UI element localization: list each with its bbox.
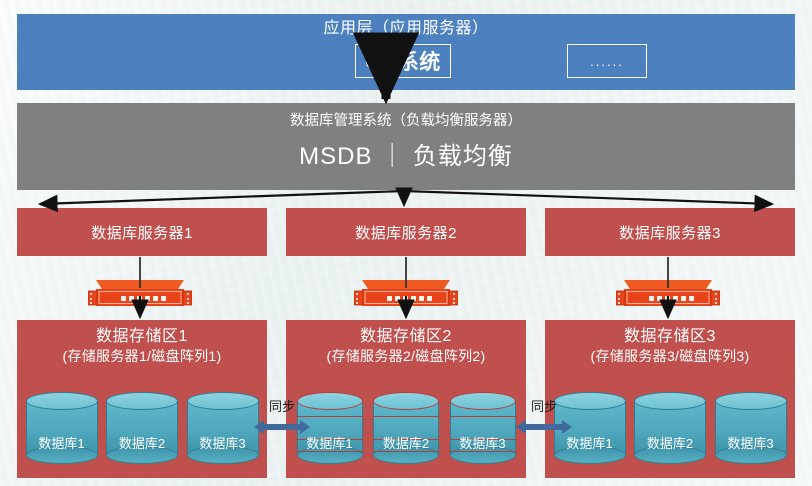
- storage-area-subtitle-3: (存储服务器3/磁盘阵列3): [545, 347, 795, 366]
- cylinder-seam: [296, 416, 364, 417]
- cylinder-top: [634, 392, 706, 410]
- storage-area-title-3: 数据存储区3: [545, 326, 795, 347]
- diagram-canvas: 应用层（应用服务器） OA系统 ...... 数据库管理系统（负载均衡服务器） …: [0, 0, 812, 486]
- cylinder-top: [373, 392, 439, 410]
- storage-area-title-1: 数据存储区1: [17, 326, 267, 347]
- cylinder-top: [450, 392, 516, 410]
- storage-area-subtitle-2: (存储服务器2/磁盘阵列2): [286, 347, 526, 366]
- database-cylinder[interactable]: 数据库3: [187, 392, 259, 464]
- database-label: 数据库2: [634, 433, 706, 452]
- sync-label: 同步: [252, 396, 312, 415]
- database-cylinder[interactable]: 数据库2: [106, 392, 178, 464]
- database-label: 数据库3: [450, 433, 516, 452]
- application-layer-band: 应用层（应用服务器） OA系统 ......: [17, 14, 795, 90]
- cylinder-top: [715, 392, 787, 410]
- database-label: 数据库1: [297, 433, 363, 452]
- database-label: 数据库1: [26, 433, 98, 452]
- cylinder-top: [106, 392, 178, 410]
- cylinder-seam: [449, 416, 517, 417]
- database-label: 数据库1: [554, 433, 626, 452]
- storage-area-title-2: 数据存储区2: [286, 326, 526, 347]
- cylinder-top: [26, 392, 98, 410]
- rack-device-icon-3: [616, 279, 720, 309]
- database-cylinder[interactable]: 数据库3: [450, 392, 516, 464]
- rack-device-icon-1: [88, 279, 192, 309]
- database-cylinder-row-2: 数据库1 数据库2 数据库3: [286, 392, 526, 464]
- cylinder-seam: [372, 416, 440, 417]
- storage-area-box-1[interactable]: 数据存储区1 (存储服务器1/磁盘阵列1) 数据库1 数据库2 数据库3: [17, 320, 267, 478]
- dbms-subtitle: 数据库管理系统（负载均衡服务器）: [17, 112, 795, 130]
- database-cylinder[interactable]: 数据库2: [373, 392, 439, 464]
- database-label: 数据库2: [373, 433, 439, 452]
- application-layer-title: 应用层（应用服务器）: [17, 19, 795, 39]
- database-label: 数据库3: [187, 433, 259, 452]
- dbms-load-balancer-band: 数据库管理系统（负载均衡服务器） MSDB ｜ 负载均衡: [17, 103, 795, 190]
- rack-device-icon-2: [354, 279, 458, 309]
- connector-dbms-fanout: [40, 191, 772, 205]
- db-server-box-1[interactable]: 数据库服务器1: [17, 208, 267, 256]
- oa-system-box[interactable]: OA系统: [355, 44, 451, 78]
- database-cylinder-row-1: 数据库1 数据库2 数据库3: [17, 392, 267, 464]
- db-server-box-3[interactable]: 数据库服务器3: [545, 208, 795, 256]
- database-cylinder[interactable]: 数据库1: [26, 392, 98, 464]
- database-label: 数据库3: [715, 433, 787, 452]
- more-systems-box[interactable]: ......: [567, 44, 647, 78]
- database-cylinder-row-3: 数据库1 数据库2 数据库3: [545, 392, 795, 464]
- cylinder-top: [187, 392, 259, 410]
- database-label: 数据库2: [106, 433, 178, 452]
- storage-area-subtitle-1: (存储服务器1/磁盘阵列1): [17, 347, 267, 366]
- dbms-title: MSDB ｜ 负载均衡: [17, 142, 795, 172]
- database-cylinder[interactable]: 数据库2: [634, 392, 706, 464]
- storage-area-box-3[interactable]: 数据存储区3 (存储服务器3/磁盘阵列3) 数据库1 数据库2 数据库3: [545, 320, 795, 478]
- database-cylinder[interactable]: 数据库3: [715, 392, 787, 464]
- db-server-box-2[interactable]: 数据库服务器2: [286, 208, 526, 256]
- storage-area-box-2[interactable]: 数据存储区2 (存储服务器2/磁盘阵列2) 数据库1 数据库2: [286, 320, 526, 478]
- sync-label: 同步: [514, 396, 574, 415]
